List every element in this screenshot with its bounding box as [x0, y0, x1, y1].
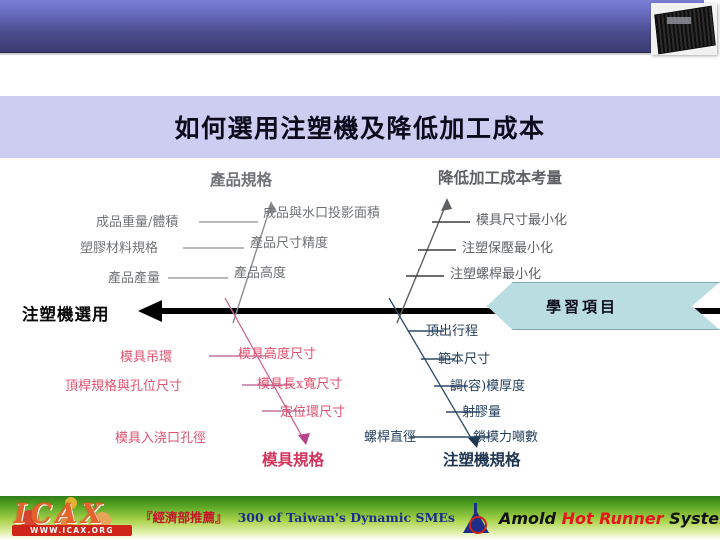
bone-cost-reduction-arrow	[441, 198, 452, 211]
twig-label: 模具長x寬尺寸	[257, 373, 342, 392]
category-head-machine-spec: 注塑機規格	[443, 448, 521, 470]
icax-url-banner: WWW.ICAX.ORG	[12, 525, 132, 536]
footer-bar: ICAX WWW.ICAX.ORG 『經濟部推薦』 300 of Taiwan'…	[0, 496, 720, 540]
twig-label: 注塑螺桿最小化	[450, 263, 541, 282]
amold-word-2: Hot Runner	[562, 509, 664, 528]
spine-label: 注塑機選用	[22, 301, 110, 325]
fishbone-diagram: 注塑機選用 學習項目 產品規格 成品重量/體積 塑膠材料規格 產品產量 成品與水…	[0, 158, 720, 488]
twig-label: 頂出行程	[426, 320, 478, 339]
mold-plate-label-patch	[667, 17, 691, 24]
twig-label: 射膠量	[462, 401, 501, 420]
tower-icon	[460, 502, 492, 534]
twig-label: 螺桿直徑	[364, 426, 416, 445]
amold-word-1: Amold	[499, 509, 556, 528]
twig-label: 模具入浇口孔徑	[115, 427, 206, 446]
amold-logo[interactable]: Amold Hot Runner System	[460, 502, 720, 534]
sme-award-text: 『經濟部推薦』 300 of Taiwan's Dynamic SMEs	[140, 507, 455, 526]
twig-label: 成品與水口投影面積	[263, 202, 380, 221]
twig-label: 模具尺寸最小化	[476, 209, 567, 228]
amold-wordmark: Amold Hot Runner System	[499, 509, 720, 528]
twig-label: 模具吊環	[120, 346, 172, 365]
mold-plate-grid-icon	[654, 6, 716, 55]
bone-mold-spec-arrow	[298, 433, 310, 445]
page-title: 如何選用注塑機及降低加工成本	[174, 109, 545, 145]
sme-award-cn: 『經濟部推薦』	[140, 510, 228, 525]
twig-label: 成品重量/體積	[96, 211, 178, 230]
title-band: 如何選用注塑機及降低加工成本	[0, 96, 720, 158]
twig-label: 產品產量	[108, 267, 160, 286]
category-head-mold-spec: 模具規格	[262, 448, 324, 470]
mold-plate-photo	[651, 3, 717, 55]
spine-arrowhead	[138, 300, 162, 322]
twig-label: 調(容)模厚度	[450, 375, 525, 394]
twig-label: 塑膠材料規格	[80, 237, 158, 256]
amold-word-3: System	[669, 509, 720, 528]
twig-label: 頂桿規格與孔位尺寸	[65, 375, 182, 394]
top-decoration-banner	[0, 0, 704, 53]
category-head-cost-reduction: 降低加工成本考量	[438, 166, 562, 188]
learning-items-banner: 學習項目	[487, 282, 720, 330]
twig-label: 注塑保壓最小化	[462, 237, 553, 256]
sme-award-en: 300 of Taiwan's Dynamic SMEs	[238, 510, 455, 525]
learning-items-label: 學習項目	[487, 282, 677, 330]
twig-label: 模具高度尺寸	[238, 343, 316, 362]
twig-label: 定位環尺寸	[280, 401, 345, 420]
twig-label: 產品尺寸精度	[250, 232, 328, 251]
icax-logo[interactable]: ICAX WWW.ICAX.ORG	[8, 498, 138, 538]
category-head-product-spec: 產品規格	[210, 168, 272, 190]
twig-label: 產品高度	[234, 262, 286, 281]
twig-label: 鎖模力噸數	[473, 426, 538, 445]
banner-shadow	[0, 52, 704, 55]
bone-cost-reduction	[397, 202, 447, 323]
tower-ring-icon	[469, 516, 487, 534]
twig-label: 範本尺寸	[438, 348, 490, 367]
